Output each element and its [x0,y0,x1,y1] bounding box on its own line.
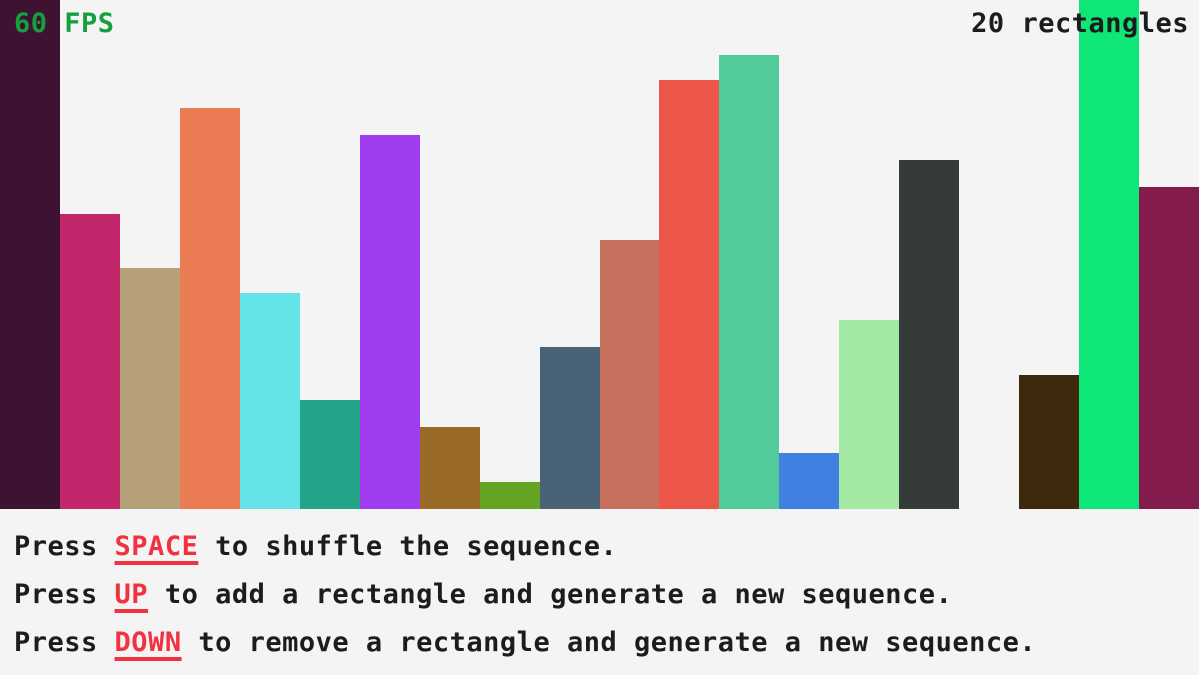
bar-rectangle [60,214,120,509]
bar-rectangle [899,160,959,509]
bar-rectangle [300,400,360,509]
instruction-line-shuffle: Press SPACE to shuffle the sequence. [14,523,1199,571]
instruction-line-remove: Press DOWN to remove a rectangle and gen… [14,619,1199,667]
bar-rectangle [1139,187,1199,509]
bar-rectangle [240,293,300,509]
bar-rectangle [0,0,60,509]
bar-series [0,0,1199,509]
bar-rectangle [659,80,719,509]
instruction-prefix: Press [14,531,115,562]
instruction-line-add: Press UP to add a rectangle and generate… [14,571,1199,619]
key-up[interactable]: UP [115,579,149,610]
instruction-suffix: to shuffle the sequence. [198,531,617,562]
key-down[interactable]: DOWN [115,627,182,658]
bar-rectangle [839,320,899,509]
rectangle-count-label: 20 rectangles [971,8,1189,40]
fps-counter: 60 FPS [14,8,115,40]
bar-rectangle [1079,0,1139,509]
bar-rectangle [1019,375,1079,509]
bar-rectangle [480,482,540,509]
bar-chart-canvas[interactable] [0,0,1199,509]
bar-rectangle [540,347,600,509]
instruction-prefix: Press [14,579,115,610]
instructions-panel: Press SPACE to shuffle the sequence. Pre… [0,509,1199,675]
bar-rectangle [180,108,240,509]
bar-rectangle [719,55,779,509]
instruction-suffix: to add a rectangle and generate a new se… [148,579,952,610]
bar-rectangle [120,268,180,509]
bar-rectangle [600,240,660,509]
key-space[interactable]: SPACE [115,531,199,562]
instruction-suffix: to remove a rectangle and generate a new… [182,627,1037,658]
bar-rectangle [420,427,480,509]
bar-rectangle [360,135,420,509]
rectangle-sort-app: 60 FPS 20 rectangles Press SPACE to shuf… [0,0,1199,675]
instruction-prefix: Press [14,627,115,658]
bar-rectangle [779,453,839,509]
